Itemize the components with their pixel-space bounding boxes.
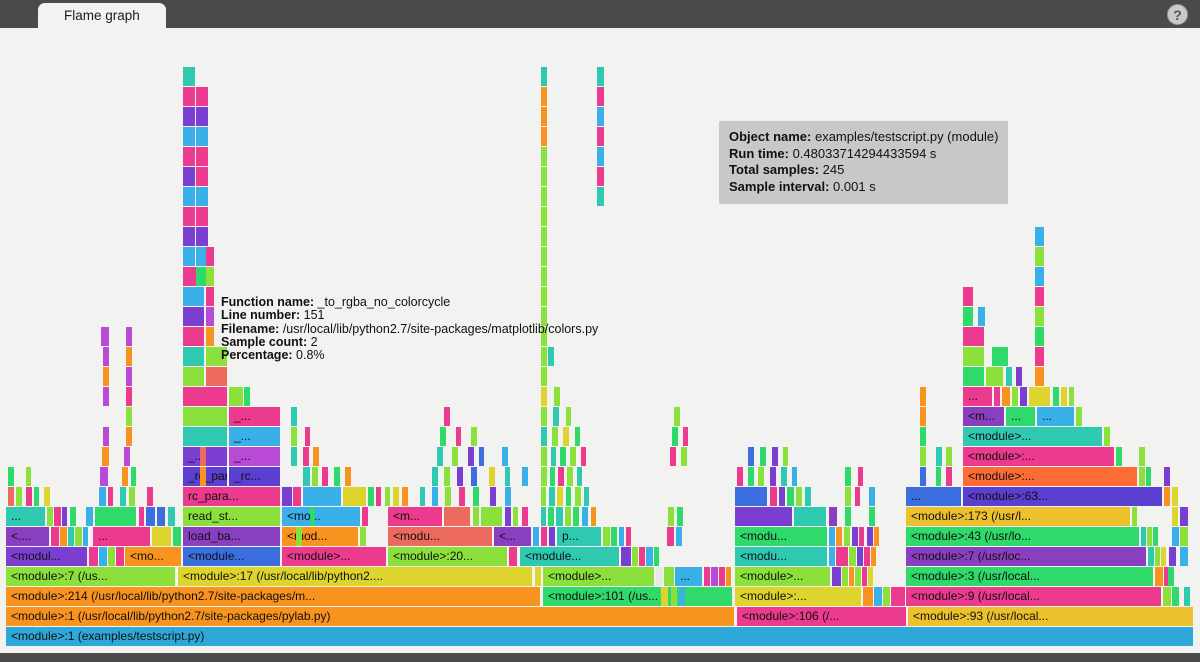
flame-frame[interactable] <box>183 347 205 366</box>
flame-frame[interactable] <box>334 467 340 486</box>
flame-frame-labeled[interactable]: p... <box>557 527 602 546</box>
flame-frame[interactable] <box>1164 467 1170 486</box>
flame-frame[interactable] <box>86 507 93 526</box>
flame-frame[interactable] <box>1164 487 1170 506</box>
flame-frame[interactable] <box>566 407 571 426</box>
flame-frame[interactable] <box>1172 487 1178 506</box>
flame-frame-labeled[interactable]: <module>:17 (/usr/local/lib/python2.... <box>178 567 533 586</box>
flame-frame[interactable] <box>946 447 952 466</box>
flame-frame[interactable] <box>293 487 301 506</box>
flame-frame[interactable] <box>619 527 624 546</box>
flame-frame-labeled[interactable]: <module>:63... <box>963 487 1163 506</box>
flame-frame[interactable] <box>541 227 547 246</box>
flame-frame[interactable] <box>603 527 610 546</box>
flame-frame[interactable] <box>656 567 663 586</box>
flame-frame[interactable] <box>116 547 124 566</box>
flame-frame[interactable] <box>313 447 319 466</box>
flame-frame[interactable] <box>597 147 604 166</box>
flame-frame[interactable] <box>481 507 503 526</box>
flame-frame[interactable] <box>196 187 208 206</box>
flame-frame[interactable] <box>748 467 754 486</box>
flame-frame[interactable] <box>920 407 926 426</box>
flame-frame[interactable] <box>345 467 351 486</box>
flame-frame[interactable] <box>554 387 560 406</box>
flame-frame[interactable] <box>376 487 381 506</box>
flame-frame[interactable] <box>1139 447 1145 466</box>
flame-frame[interactable] <box>541 247 547 266</box>
flame-frame[interactable] <box>553 407 559 426</box>
flame-frame[interactable] <box>124 447 130 466</box>
flame-frame[interactable] <box>129 487 135 506</box>
flame-frame[interactable] <box>829 547 835 566</box>
flame-frame-labeled[interactable]: <module>:... <box>963 467 1138 486</box>
flame-frame[interactable] <box>1146 467 1151 486</box>
flame-frame-labeled[interactable]: <modu... <box>735 547 828 566</box>
flame-frame[interactable] <box>303 487 342 506</box>
flame-frame[interactable] <box>457 467 463 486</box>
flame-frame[interactable] <box>200 447 206 466</box>
flame-frame[interactable] <box>1180 507 1188 526</box>
flame-frame[interactable] <box>183 227 195 246</box>
flame-frame[interactable] <box>963 307 973 326</box>
flame-frame[interactable] <box>183 67 195 86</box>
flame-frame[interactable] <box>541 507 546 526</box>
flame-frame[interactable] <box>1035 267 1044 286</box>
flame-frame[interactable] <box>704 567 710 586</box>
flame-frame[interactable] <box>99 487 106 506</box>
flame-frame[interactable] <box>60 527 67 546</box>
flame-frame-labeled[interactable]: <module>:173 (/usr/l... <box>906 507 1131 526</box>
flame-frame[interactable] <box>47 507 53 526</box>
flame-frame[interactable] <box>34 487 39 506</box>
flame-frame[interactable] <box>26 487 32 506</box>
flame-frame[interactable] <box>1141 527 1146 546</box>
flame-frame[interactable] <box>677 507 683 526</box>
flame-frame[interactable] <box>758 467 764 486</box>
flame-frame-labeled[interactable]: <module>... <box>282 547 387 566</box>
flame-frame-labeled[interactable]: rc_para... <box>183 487 281 506</box>
flame-frame[interactable] <box>183 167 195 186</box>
flame-frame[interactable] <box>131 467 136 486</box>
flame-frame[interactable] <box>291 447 297 466</box>
flame-frame[interactable] <box>672 427 678 446</box>
flame-frame-labeled[interactable]: <.... <box>6 527 50 546</box>
flame-frame[interactable] <box>597 87 604 106</box>
flame-frame-labeled[interactable]: _... <box>229 447 281 466</box>
flame-frame[interactable] <box>570 447 576 466</box>
flame-frame[interactable] <box>1104 427 1110 446</box>
flame-frame[interactable] <box>471 467 477 486</box>
flame-frame[interactable] <box>541 167 547 186</box>
flame-frame[interactable] <box>978 307 985 326</box>
flame-frame[interactable] <box>126 367 132 386</box>
flame-frame[interactable] <box>183 107 195 126</box>
flame-frame[interactable] <box>362 507 368 526</box>
flame-frame[interactable] <box>787 487 794 506</box>
flame-frame-labeled[interactable]: ... <box>963 387 993 406</box>
flame-frame[interactable] <box>183 427 228 446</box>
flame-frame[interactable] <box>1163 587 1171 606</box>
flame-frame[interactable] <box>549 527 555 546</box>
flame-frame[interactable] <box>62 507 67 526</box>
flame-frame[interactable] <box>312 467 318 486</box>
flame-frame[interactable] <box>1069 387 1074 406</box>
flame-frame[interactable] <box>502 447 508 466</box>
flame-frame[interactable] <box>1012 387 1018 406</box>
flame-frame-labeled[interactable]: <module>:214 (/usr/local/lib/python2.7/s… <box>6 587 541 606</box>
flame-frame[interactable] <box>963 327 985 346</box>
flame-frame-labeled[interactable]: <module>... <box>963 427 1103 446</box>
flame-frame[interactable] <box>541 447 547 466</box>
flame-frame[interactable] <box>920 467 926 486</box>
flame-frame[interactable] <box>541 187 547 206</box>
flame-frame[interactable] <box>139 507 144 526</box>
flame-frame[interactable] <box>849 567 854 586</box>
flame-frame[interactable] <box>8 467 14 486</box>
flame-frame[interactable] <box>920 387 926 406</box>
flame-frame[interactable] <box>183 187 195 206</box>
flame-frame[interactable] <box>842 567 848 586</box>
flame-frame[interactable] <box>541 387 547 406</box>
flame-frame[interactable] <box>936 447 942 466</box>
flame-frame[interactable] <box>437 447 443 466</box>
flame-frame[interactable] <box>575 427 580 446</box>
flame-frame[interactable] <box>196 167 208 186</box>
flame-frame[interactable] <box>711 567 718 586</box>
flame-frame[interactable] <box>1132 507 1137 526</box>
flame-frame[interactable] <box>489 467 495 486</box>
flame-frame[interactable] <box>95 507 137 526</box>
flame-frame[interactable] <box>845 487 851 506</box>
flame-frame[interactable] <box>471 427 477 446</box>
flame-frame-labeled[interactable]: <module... <box>183 547 281 566</box>
flame-frame[interactable] <box>8 487 14 506</box>
flame-frame-labeled[interactable]: _... <box>229 427 281 446</box>
flame-frame[interactable] <box>126 387 132 406</box>
flame-frame[interactable] <box>683 427 688 446</box>
flame-frame[interactable] <box>748 447 754 466</box>
flame-frame[interactable] <box>196 147 208 166</box>
flame-frame[interactable] <box>783 447 788 466</box>
flame-frame[interactable] <box>200 467 206 486</box>
flame-graph-canvas[interactable]: <module>:1 (examples/testscript.py)<modu… <box>0 28 1200 653</box>
flame-frame[interactable] <box>541 147 547 166</box>
flame-frame[interactable] <box>196 107 208 126</box>
flame-frame[interactable] <box>183 407 228 426</box>
flame-frame[interactable] <box>557 487 563 506</box>
flame-frame[interactable] <box>322 467 328 486</box>
flame-frame-labeled[interactable]: _rc... <box>229 467 281 486</box>
flame-frame[interactable] <box>296 527 302 546</box>
flame-frame[interactable] <box>676 527 682 546</box>
flame-frame-labeled[interactable]: ... <box>6 507 46 526</box>
flame-frame[interactable] <box>1116 447 1122 466</box>
flame-frame[interactable] <box>75 527 82 546</box>
flame-frame[interactable] <box>794 507 827 526</box>
flame-frame-labeled[interactable]: <modul... <box>6 547 88 566</box>
flame-frame[interactable] <box>1006 367 1012 386</box>
flame-frame[interactable] <box>575 487 581 506</box>
flame-frame-labeled[interactable]: <mo... <box>125 547 182 566</box>
flame-frame[interactable] <box>891 587 905 606</box>
flame-frame-labeled[interactable]: ... <box>1037 407 1075 426</box>
flame-frame[interactable] <box>855 487 860 506</box>
flame-frame[interactable] <box>183 327 205 346</box>
flame-frame-labeled[interactable]: <module>:1 (/usr/local/lib/python2.7/sit… <box>6 607 735 626</box>
flame-frame[interactable] <box>535 567 541 586</box>
flame-frame[interactable] <box>541 67 547 86</box>
flame-frame[interactable] <box>805 487 811 506</box>
flame-frame[interactable] <box>122 467 128 486</box>
flame-frame[interactable] <box>772 447 778 466</box>
flame-frame[interactable] <box>1172 527 1179 546</box>
flame-frame-labeled[interactable]: <module>:7 (/us... <box>6 567 176 586</box>
flame-frame[interactable] <box>541 107 547 126</box>
flame-frame[interactable] <box>855 567 861 586</box>
flame-frame[interactable] <box>541 267 547 286</box>
flame-frame[interactable] <box>963 287 973 306</box>
flame-frame[interactable] <box>146 507 155 526</box>
flame-frame-labeled[interactable]: <modu... <box>735 527 828 546</box>
flame-frame[interactable] <box>1020 387 1027 406</box>
flame-frame[interactable] <box>858 467 863 486</box>
flame-frame[interactable] <box>468 447 474 466</box>
flame-frame[interactable] <box>54 507 61 526</box>
flame-frame[interactable] <box>505 487 511 506</box>
flame-frame[interactable] <box>103 387 109 406</box>
flame-frame[interactable] <box>1169 547 1176 566</box>
flame-frame[interactable] <box>621 547 631 566</box>
flame-frame[interactable] <box>303 447 309 466</box>
flame-frame[interactable] <box>550 467 555 486</box>
flame-frame[interactable] <box>459 487 465 506</box>
flame-frame[interactable] <box>1161 547 1166 566</box>
flame-frame[interactable] <box>196 127 208 146</box>
flame-frame[interactable] <box>168 507 175 526</box>
flame-frame[interactable] <box>1035 247 1044 266</box>
flame-frame[interactable] <box>845 467 851 486</box>
flame-frame[interactable] <box>883 587 890 606</box>
flame-frame[interactable] <box>852 527 858 546</box>
flame-frame[interactable] <box>632 547 638 566</box>
flame-frame[interactable] <box>874 587 882 606</box>
flame-frame[interactable] <box>1153 527 1158 546</box>
flame-frame[interactable] <box>735 487 768 506</box>
flame-frame[interactable] <box>668 507 674 526</box>
flame-frame[interactable] <box>343 487 367 506</box>
flame-frame-labeled[interactable]: <module>:106 (/... <box>737 607 907 626</box>
flame-frame[interactable] <box>551 447 556 466</box>
flame-frame[interactable] <box>597 67 604 86</box>
flame-frame[interactable] <box>444 407 450 426</box>
flame-frame-labeled[interactable]: _... <box>229 407 281 426</box>
flame-frame[interactable] <box>582 507 588 526</box>
flame-frame[interactable] <box>1180 547 1188 566</box>
flame-frame[interactable] <box>992 347 1008 366</box>
flame-frame[interactable] <box>196 87 208 106</box>
flame-frame[interactable] <box>505 507 511 526</box>
flame-frame[interactable] <box>654 547 659 566</box>
flame-frame[interactable] <box>183 367 205 386</box>
flame-frame[interactable] <box>183 247 195 266</box>
flame-frame[interactable] <box>591 507 596 526</box>
flame-frame[interactable] <box>770 467 776 486</box>
flame-frame[interactable] <box>792 467 797 486</box>
flame-frame[interactable] <box>1035 227 1044 246</box>
flame-frame[interactable] <box>1016 367 1022 386</box>
flame-frame[interactable] <box>558 467 564 486</box>
flame-frame[interactable] <box>611 527 617 546</box>
flame-frame[interactable] <box>920 427 926 446</box>
flame-frame[interactable] <box>89 547 98 566</box>
flame-frame[interactable] <box>533 527 539 546</box>
flame-frame[interactable] <box>760 447 766 466</box>
flame-frame[interactable] <box>735 507 793 526</box>
flame-frame-labeled[interactable]: <module>:93 (/usr/local... <box>908 607 1194 626</box>
flame-frame[interactable] <box>646 547 653 566</box>
flame-frame-labeled[interactable]: ... <box>1006 407 1036 426</box>
flame-frame[interactable] <box>183 87 195 106</box>
flame-frame[interactable] <box>68 527 74 546</box>
flame-frame[interactable] <box>1076 407 1082 426</box>
flame-frame[interactable] <box>1155 567 1163 586</box>
flame-frame-labeled[interactable]: <m... <box>388 507 443 526</box>
flame-frame[interactable] <box>103 367 109 386</box>
flame-frame[interactable] <box>1029 387 1051 406</box>
flame-frame[interactable] <box>1139 467 1145 486</box>
flame-frame[interactable] <box>196 227 208 246</box>
flame-frame[interactable] <box>452 447 458 466</box>
flame-frame[interactable] <box>541 467 547 486</box>
flame-frame[interactable] <box>1035 347 1044 366</box>
flame-frame[interactable] <box>867 527 873 546</box>
flame-frame-labeled[interactable]: <module>:3 (/usr/local... <box>906 567 1154 586</box>
flame-frame-labeled[interactable]: <module>:43 (/usr/lo... <box>906 527 1140 546</box>
flame-frame[interactable] <box>626 527 631 546</box>
flame-frame[interactable] <box>103 347 109 366</box>
flame-frame[interactable] <box>770 487 777 506</box>
flame-frame[interactable] <box>291 427 297 446</box>
flame-frame[interactable] <box>1180 527 1188 546</box>
flame-frame[interactable] <box>505 467 510 486</box>
flame-frame[interactable] <box>126 427 132 446</box>
flame-frame-labeled[interactable]: <module>:101 (/us... <box>543 587 733 606</box>
flame-frame[interactable] <box>565 507 571 526</box>
flame-frame[interactable] <box>541 87 547 106</box>
flame-frame[interactable] <box>99 547 107 566</box>
flame-frame[interactable] <box>444 467 450 486</box>
flame-frame[interactable] <box>552 427 558 446</box>
flame-frame[interactable] <box>282 487 292 506</box>
flame-frame-labeled[interactable]: <modu... <box>388 527 493 546</box>
flame-frame[interactable] <box>1002 387 1010 406</box>
flame-frame[interactable] <box>829 527 835 546</box>
flame-frame[interactable] <box>206 367 228 386</box>
flame-frame[interactable] <box>556 507 563 526</box>
flame-frame[interactable] <box>291 407 297 426</box>
flame-frame[interactable] <box>1148 547 1154 566</box>
flame-frame[interactable] <box>863 587 873 606</box>
flame-frame[interactable] <box>183 387 228 406</box>
flame-frame[interactable] <box>849 547 856 566</box>
flame-frame[interactable] <box>719 567 725 586</box>
flame-frame[interactable] <box>303 467 310 486</box>
flame-frame[interactable] <box>674 407 680 426</box>
flame-frame[interactable] <box>479 447 484 466</box>
flame-frame-labeled[interactable]: <module>:9 (/usr/local... <box>906 587 1162 606</box>
flame-frame[interactable] <box>509 547 517 566</box>
flame-frame[interactable] <box>1053 387 1059 406</box>
flame-frame[interactable] <box>541 127 547 146</box>
flame-frame[interactable] <box>560 447 566 466</box>
flame-frame-labeled[interactable]: <module>... <box>735 567 831 586</box>
flame-frame[interactable] <box>432 467 438 486</box>
flame-frame-labeled[interactable]: <module>... <box>543 567 655 586</box>
flame-frame[interactable] <box>126 327 132 346</box>
flame-frame[interactable] <box>100 467 108 486</box>
flame-frame[interactable] <box>832 567 841 586</box>
flame-frame[interactable] <box>102 447 109 466</box>
flame-frame[interactable] <box>597 127 604 146</box>
flame-frame[interactable] <box>667 527 674 546</box>
flame-frame[interactable] <box>577 467 582 486</box>
flame-frame[interactable] <box>581 447 586 466</box>
flame-frame-labeled[interactable]: <... <box>494 527 532 546</box>
flame-frame[interactable] <box>108 487 113 506</box>
flame-frame[interactable] <box>126 347 132 366</box>
flame-frame[interactable] <box>679 587 685 606</box>
flame-frame-labeled[interactable]: ... <box>93 527 151 546</box>
flame-frame[interactable] <box>26 467 31 486</box>
flame-frame[interactable] <box>70 507 76 526</box>
flame-frame[interactable] <box>541 367 547 386</box>
flame-frame[interactable] <box>51 527 59 546</box>
flame-frame-labeled[interactable]: <m... <box>963 407 1005 426</box>
flame-frame-labeled[interactable]: <module>:20... <box>388 547 508 566</box>
flame-frame[interactable] <box>456 427 461 446</box>
flame-frame[interactable] <box>310 507 315 526</box>
flame-frame[interactable] <box>541 427 547 446</box>
flame-frame[interactable] <box>859 527 864 546</box>
flame-frame[interactable] <box>796 487 802 506</box>
flame-frame[interactable] <box>173 527 181 546</box>
flame-frame[interactable] <box>490 487 496 506</box>
flame-frame[interactable] <box>368 487 374 506</box>
flame-frame[interactable] <box>661 587 668 606</box>
flame-frame[interactable] <box>473 487 479 506</box>
flame-frame[interactable] <box>541 527 547 546</box>
flame-frame[interactable] <box>548 507 554 526</box>
flame-frame[interactable] <box>857 547 863 566</box>
flame-frame[interactable] <box>157 507 165 526</box>
flame-frame[interactable] <box>844 527 850 546</box>
flame-frame[interactable] <box>206 267 214 286</box>
flame-frame[interactable] <box>432 487 438 506</box>
flame-frame[interactable] <box>108 547 115 566</box>
flame-frame[interactable] <box>936 467 941 486</box>
flame-frame[interactable] <box>1035 367 1044 386</box>
flame-frame[interactable] <box>1061 387 1067 406</box>
flame-frame[interactable] <box>639 547 645 566</box>
flame-frame[interactable] <box>737 467 743 486</box>
flame-frame[interactable] <box>829 507 837 526</box>
flame-frame[interactable] <box>385 487 390 506</box>
flame-frame[interactable] <box>871 547 876 566</box>
flame-frame[interactable] <box>244 387 250 406</box>
flame-frame[interactable] <box>183 127 195 146</box>
flame-frame[interactable] <box>83 527 88 546</box>
flame-frame[interactable] <box>393 487 399 506</box>
